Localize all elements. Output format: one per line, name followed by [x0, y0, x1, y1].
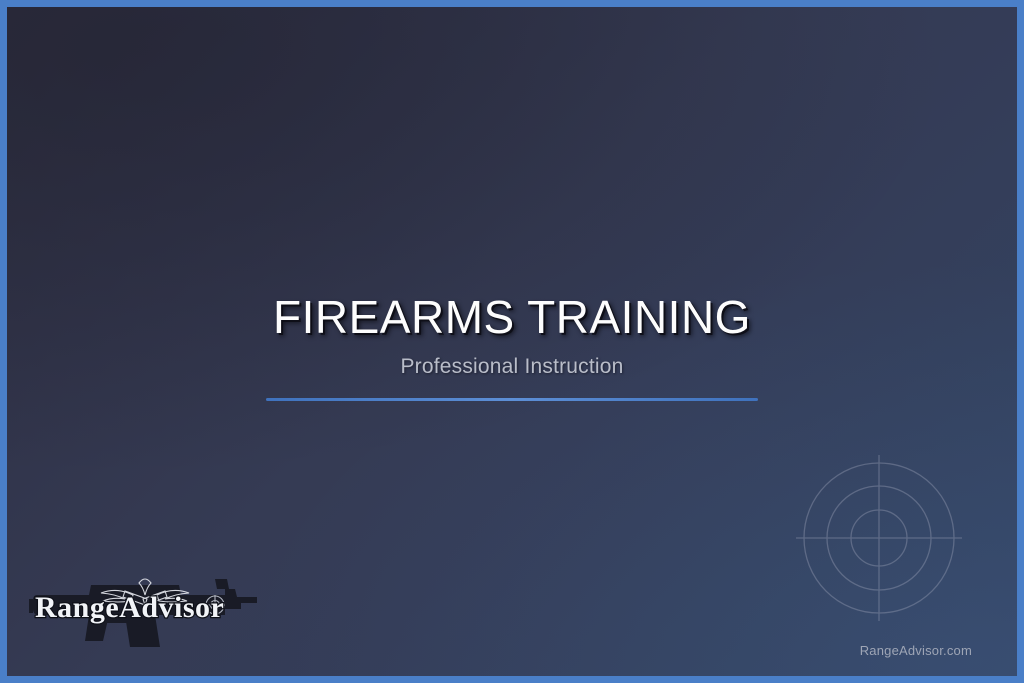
page-subtitle: Professional Instruction [7, 355, 1017, 379]
title-block: FIREARMS TRAINING Professional Instructi… [7, 293, 1017, 401]
footer-website: RangeAdvisor.com [860, 643, 972, 658]
page-title: FIREARMS TRAINING [7, 293, 1017, 341]
brand-logo: RangeAdvisor [29, 565, 269, 647]
crosshair-target-icon [794, 453, 964, 623]
presentation-slide: FIREARMS TRAINING Professional Instructi… [0, 0, 1024, 683]
brand-wordmark: RangeAdvisor [35, 591, 224, 624]
accent-divider [266, 398, 758, 401]
